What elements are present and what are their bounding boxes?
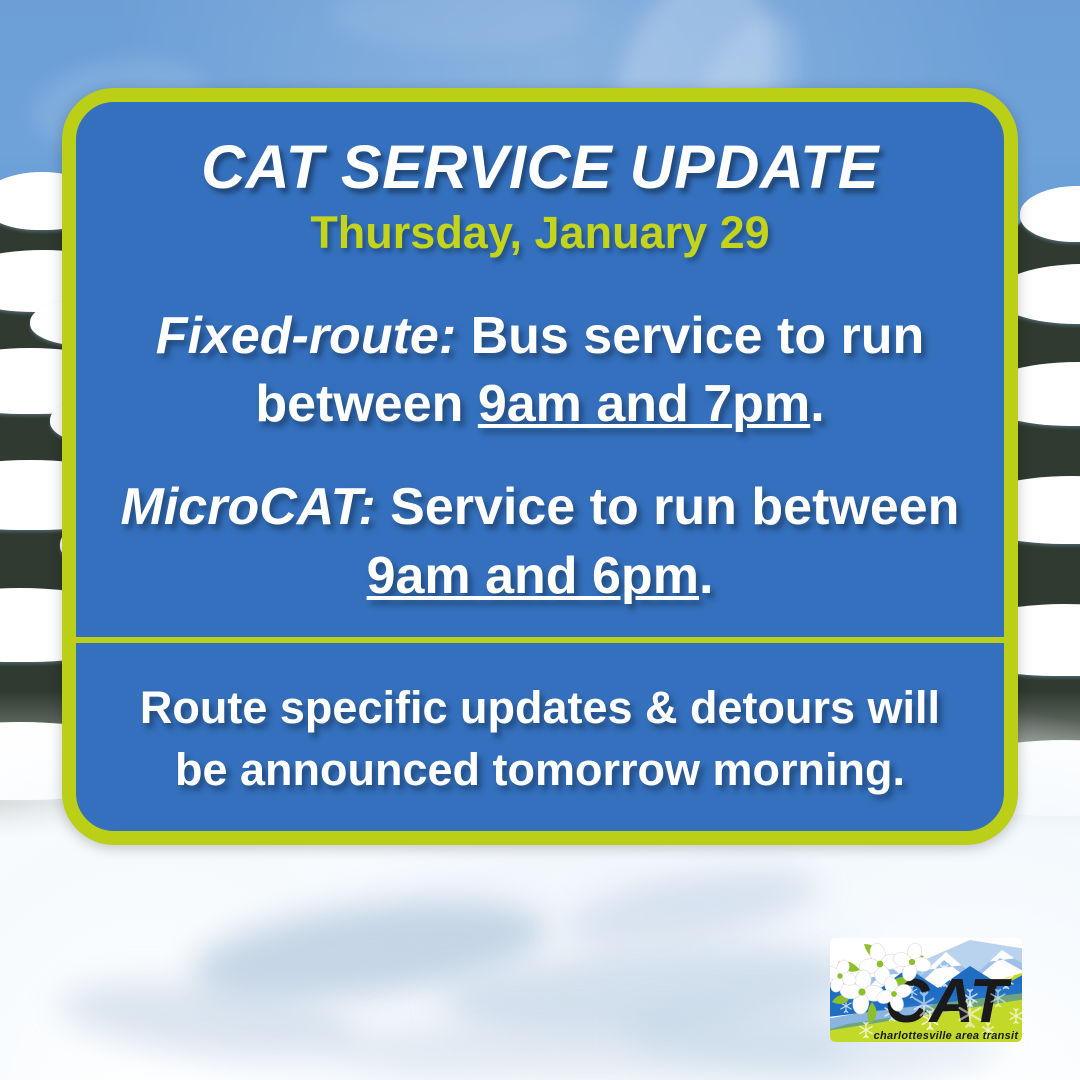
announcement-microcat: MicroCAT: Service to run between 9am and… [118,473,962,610]
service-date: Thursday, January 29 [118,208,962,258]
announcement-card: CAT SERVICE UPDATE Thursday, January 29 … [62,88,1018,845]
poster: CAT SERVICE UPDATE Thursday, January 29 … [0,0,1080,1080]
announcement-label: Fixed-route: [156,307,456,365]
page-title: CAT SERVICE UPDATE [118,136,962,198]
card-secondary-section: Route specific updates & detours will be… [76,643,1004,831]
announcement-hours: 9am and 7pm [478,375,810,433]
card-primary-section: CAT SERVICE UPDATE Thursday, January 29 … [76,102,1004,637]
announcement-hours: 9am and 6pm [367,547,699,605]
announcement-text-after: . [699,547,713,605]
logo-badge-artwork: CAT [820,936,1032,1046]
announcement-text-before: Service to run between [376,478,960,536]
cat-logo: CAT [820,936,1032,1046]
announcement-label: MicroCAT: [121,478,376,536]
announcement-text-after: . [810,375,824,433]
announcement-fixed-route: Fixed-route: Bus service to run between … [118,302,962,439]
logo-tagline: charlottesville area transit [874,1030,1020,1042]
footnote-text: Route specific updates & detours will be… [124,677,956,801]
